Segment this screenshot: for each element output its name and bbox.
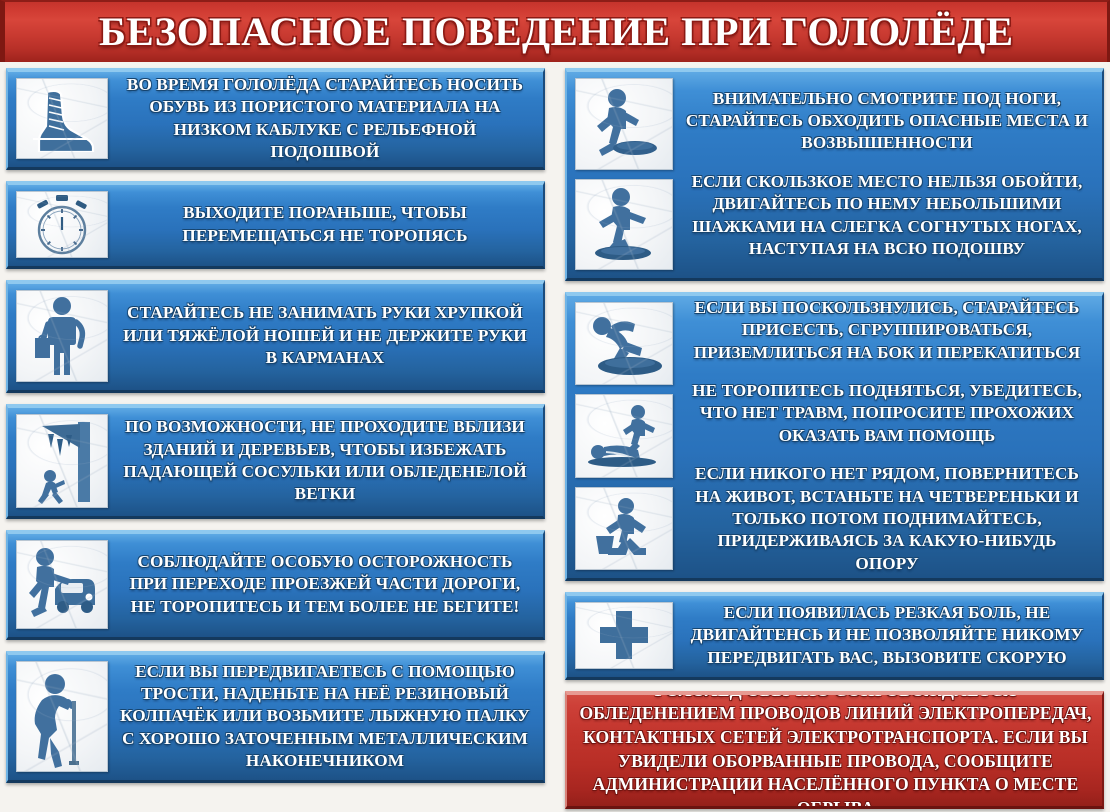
panel-paragraph: ЕСЛИ ВЫ ПОСКОЛЬЗНУЛИСЬ, СТАРАЙТЕСЬ ПРИСЕ… xyxy=(684,297,1090,364)
person-with-cane-icon xyxy=(16,661,108,772)
icicle-roof-icon xyxy=(16,414,108,508)
panel-text: ЕСЛИ ВЫ ПЕРЕДВИГАЕТЕСЬ С ПОМОЩЬЮ ТРОСТИ,… xyxy=(117,661,535,772)
icon-stack xyxy=(16,78,117,159)
icon-stack xyxy=(575,602,682,669)
panel-paragraph: ГОЛОЛЁД ОБЫЧНО СОПРОВОЖДАЕТСЯ ОБЛЕДЕНЕНИ… xyxy=(579,691,1092,809)
panel-paragraph: ЕСЛИ ПОЯВИЛАСЬ РЕЗКАЯ БОЛЬ, НЕ ДВИГАЙТЕН… xyxy=(684,602,1090,669)
panel-paragraph: ВЫХОДИТЕ ПОРАНЬШЕ, ЧТОБЫ ПЕРЕМЕЩАТЬСЯ НЕ… xyxy=(119,202,531,247)
icon-stack xyxy=(575,78,682,270)
poster-header: БЕЗОПАСНОЕ ПОВЕДЕНИЕ ПРИ ГОЛОЛЁДЕ xyxy=(0,0,1110,62)
boot-icon xyxy=(16,78,108,159)
panel-footwear: ВО ВРЕМЯ ГОЛОЛЁДА СТАРАЙТЕСЬ НОСИТЬ ОБУВ… xyxy=(6,68,545,170)
panel-watch-step: ВНИМАТЕЛЬНО СМОТРИТЕ ПОД НОГИ, СТАРАЙТЕС… xyxy=(565,68,1104,281)
panel-paragraph: СТАРАЙТЕСЬ НЕ ЗАНИМАТЬ РУКИ ХРУПКОЙ ИЛИ … xyxy=(119,302,531,369)
icon-stack xyxy=(16,191,117,258)
person-kneeling-icon xyxy=(575,487,673,570)
person-with-bag-icon xyxy=(16,290,108,382)
panel-paragraph: СОБЛЮДАЙТЕ ОСОБУЮ ОСТОРОЖНОСТЬ ПРИ ПЕРЕХ… xyxy=(119,551,531,618)
slipping-person-icon xyxy=(575,302,673,385)
panel-text: ЕСЛИ ВЫ ПОСКОЛЬЗНУЛИСЬ, СТАРАЙТЕСЬ ПРИСЕ… xyxy=(682,302,1094,570)
panel-paragraph: ПО ВОЗМОЖНОСТИ, НЕ ПРОХОДИТЕ ВБЛИЗИ ЗДАН… xyxy=(119,416,531,505)
panel-paragraph: ВНИМАТЕЛЬНО СМОТРИТЕ ПОД НОГИ, СТАРАЙТЕС… xyxy=(684,88,1090,155)
page-title: БЕЗОПАСНОЕ ПОВЕДЕНИЕ ПРИ ГОЛОЛЁДЕ xyxy=(99,12,1014,52)
icon-stack xyxy=(16,540,117,629)
panel-text: ВНИМАТЕЛЬНО СМОТРИТЕ ПОД НОГИ, СТАРАЙТЕС… xyxy=(682,78,1094,270)
panel-text: СТАРАЙТЕСЬ НЕ ЗАНИМАТЬ РУКИ ХРУПКОЙ ИЛИ … xyxy=(117,290,535,382)
panel-power-lines-warning: ГОЛОЛЁД ОБЫЧНО СОПРОВОЖДАЕТСЯ ОБЛЕДЕНЕНИ… xyxy=(565,691,1104,809)
panel-leave-early: ВЫХОДИТЕ ПОРАНЬШЕ, ЧТОБЫ ПЕРЕМЕЩАТЬСЯ НЕ… xyxy=(6,181,545,269)
panel-paragraph: ЕСЛИ ВЫ ПЕРЕДВИГАЕТЕСЬ С ПОМОЩЬЮ ТРОСТИ,… xyxy=(119,661,531,773)
panel-paragraph: ЕСЛИ СКОЛЬЗКОЕ МЕСТО НЕЛЬЗЯ ОБОЙТИ, ДВИГ… xyxy=(684,171,1090,260)
panel-text: ГОЛОЛЁД ОБЫЧНО СОПРОВОЖДАЕТСЯ ОБЛЕДЕНЕНИ… xyxy=(577,705,1092,794)
panel-paragraph: ЕСЛИ НИКОГО НЕТ РЯДОМ, ПОВЕРНИТЕСЬ НА ЖИ… xyxy=(684,463,1090,575)
left-column: ВО ВРЕМЯ ГОЛОЛЁДА СТАРАЙТЕСЬ НОСИТЬ ОБУВ… xyxy=(6,68,545,794)
walking-on-ice-icon xyxy=(575,78,673,170)
right-column: ВНИМАТЕЛЬНО СМОТРИТЕ ПОД НОГИ, СТАРАЙТЕС… xyxy=(565,68,1104,812)
fallen-person-helper-icon xyxy=(575,394,673,477)
medical-cross-icon xyxy=(575,602,673,669)
panel-paragraph: НЕ ТОРОПИТЕСЬ ПОДНЯТЬСЯ, УБЕДИТЕСЬ, ЧТО … xyxy=(684,380,1090,447)
icon-stack xyxy=(16,414,117,508)
pedestrian-car-icon xyxy=(16,540,108,629)
safety-poster: БЕЗОПАСНОЕ ПОВЕДЕНИЕ ПРИ ГОЛОЛЁДЕ ВО ВРЕ… xyxy=(0,0,1110,812)
stopwatch-icon xyxy=(16,191,108,258)
panel-crossing-road: СОБЛЮДАЙТЕ ОСОБУЮ ОСТОРОЖНОСТЬ ПРИ ПЕРЕХ… xyxy=(6,530,545,640)
stepping-carefully-icon xyxy=(575,179,673,271)
icon-stack xyxy=(575,302,682,570)
panel-walking-cane: ЕСЛИ ВЫ ПЕРЕДВИГАЕТЕСЬ С ПОМОЩЬЮ ТРОСТИ,… xyxy=(6,651,545,783)
panel-if-you-fall: ЕСЛИ ВЫ ПОСКОЛЬЗНУЛИСЬ, СТАРАЙТЕСЬ ПРИСЕ… xyxy=(565,292,1104,581)
panel-text: ПО ВОЗМОЖНОСТИ, НЕ ПРОХОДИТЕ ВБЛИЗИ ЗДАН… xyxy=(117,414,535,508)
icon-stack xyxy=(16,661,117,772)
panel-text: ВО ВРЕМЯ ГОЛОЛЁДА СТАРАЙТЕСЬ НОСИТЬ ОБУВ… xyxy=(117,78,535,159)
panel-sharp-pain: ЕСЛИ ПОЯВИЛАСЬ РЕЗКАЯ БОЛЬ, НЕ ДВИГАЙТЕН… xyxy=(565,592,1104,680)
icon-stack xyxy=(16,290,117,382)
panel-free-hands: СТАРАЙТЕСЬ НЕ ЗАНИМАТЬ РУКИ ХРУПКОЙ ИЛИ … xyxy=(6,280,545,393)
panel-paragraph: ВО ВРЕМЯ ГОЛОЛЁДА СТАРАЙТЕСЬ НОСИТЬ ОБУВ… xyxy=(119,74,531,163)
panel-avoid-buildings: ПО ВОЗМОЖНОСТИ, НЕ ПРОХОДИТЕ ВБЛИЗИ ЗДАН… xyxy=(6,404,545,519)
panel-text: ЕСЛИ ПОЯВИЛАСЬ РЕЗКАЯ БОЛЬ, НЕ ДВИГАЙТЕН… xyxy=(682,602,1094,669)
panel-text: СОБЛЮДАЙТЕ ОСОБУЮ ОСТОРОЖНОСТЬ ПРИ ПЕРЕХ… xyxy=(117,540,535,629)
panel-text: ВЫХОДИТЕ ПОРАНЬШЕ, ЧТОБЫ ПЕРЕМЕЩАТЬСЯ НЕ… xyxy=(117,191,535,258)
